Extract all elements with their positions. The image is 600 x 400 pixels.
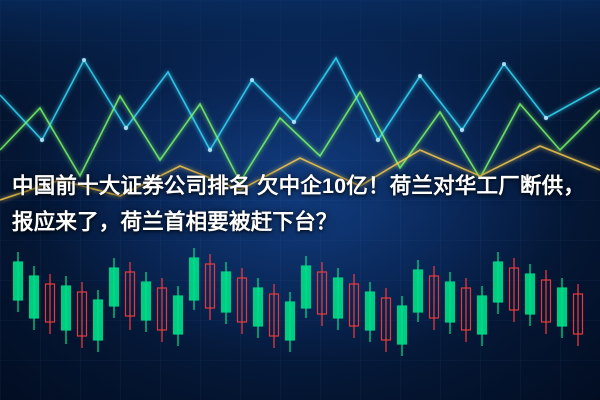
headline-text: 中国前十大证券公司排名 欠中企10亿！荷兰对华工厂断供，报应来了，荷兰首相要被赶… bbox=[12, 168, 590, 240]
top-haze bbox=[0, 0, 600, 120]
news-thumbnail-image: 中国前十大证券公司排名 欠中企10亿！荷兰对华工厂断供，报应来了，荷兰首相要被赶… bbox=[0, 0, 600, 400]
candlestick-group bbox=[14, 248, 583, 356]
